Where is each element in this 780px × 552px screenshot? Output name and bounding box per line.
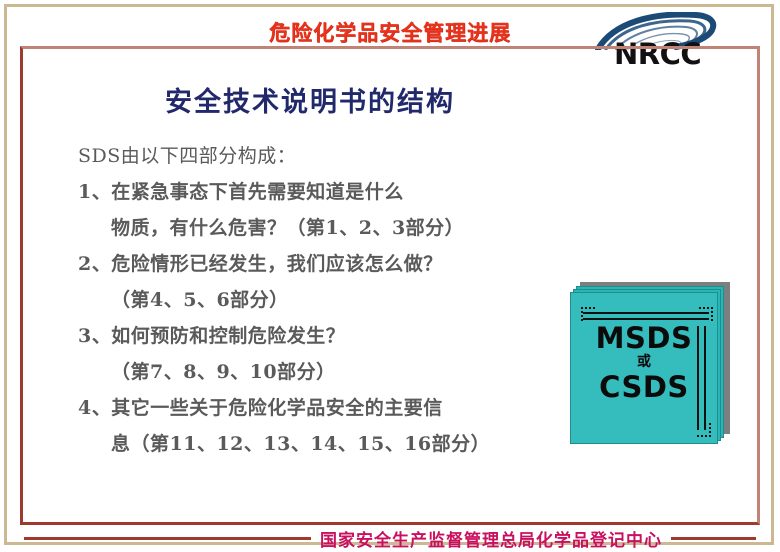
body-line: 3、如何预防和控制危险发生？ [78, 318, 558, 354]
body-line: 4、其它一些关于危险化学品安全的主要信 [78, 390, 558, 426]
body-line: （第4、5、6部分） [78, 282, 558, 318]
slide-footer: 国家安全生产监督管理总局化学品登记中心 [0, 520, 780, 552]
slide-header: 危险化学品安全管理进展 NRCC [0, 8, 780, 48]
nrcc-logo: NRCC [592, 12, 720, 68]
document-corner-mark-icon [581, 307, 595, 321]
document-label: MSDS 或 CSDS [570, 322, 718, 403]
nrcc-logo-text: NRCC [614, 37, 701, 71]
footer-rule-right [671, 537, 756, 540]
footer-text: 国家安全生产监督管理总局化学品登记中心 [320, 526, 662, 551]
document-corner-mark-icon [699, 307, 713, 321]
msds-document-stack: MSDS 或 CSDS [566, 282, 746, 447]
body-line: 息（第11、12、13、14、15、16部分） [78, 426, 558, 462]
slide-canvas: 危险化学品安全管理进展 NRCC 安全技术说明书的结构 SDS由以下四部分构成：… [0, 0, 780, 552]
body-line: 2、危险情形已经发生，我们应该怎么做？ [78, 246, 558, 282]
document-rule-line [583, 312, 709, 314]
document-label-csds: CSDS [570, 371, 718, 403]
body-line: 1、在紧急事态下首先需要知道是什么 [78, 174, 558, 210]
document-corner-mark-icon [697, 423, 711, 437]
slide-title: 安全技术说明书的结构 [60, 80, 560, 119]
document-label-msds: MSDS [570, 322, 718, 354]
body-line: （第7、8、9、10部分） [78, 354, 558, 390]
document-label-or: 或 [570, 354, 718, 371]
body-line: SDS由以下四部分构成： [78, 138, 558, 174]
document-rule-line [583, 318, 709, 320]
slide-body: SDS由以下四部分构成： 1、在紧急事态下首先需要知道是什么 物质，有什么危害？… [78, 138, 558, 462]
footer-rule-left [24, 537, 311, 540]
body-line: 物质，有什么危害？（第1、2、3部分） [78, 210, 558, 246]
